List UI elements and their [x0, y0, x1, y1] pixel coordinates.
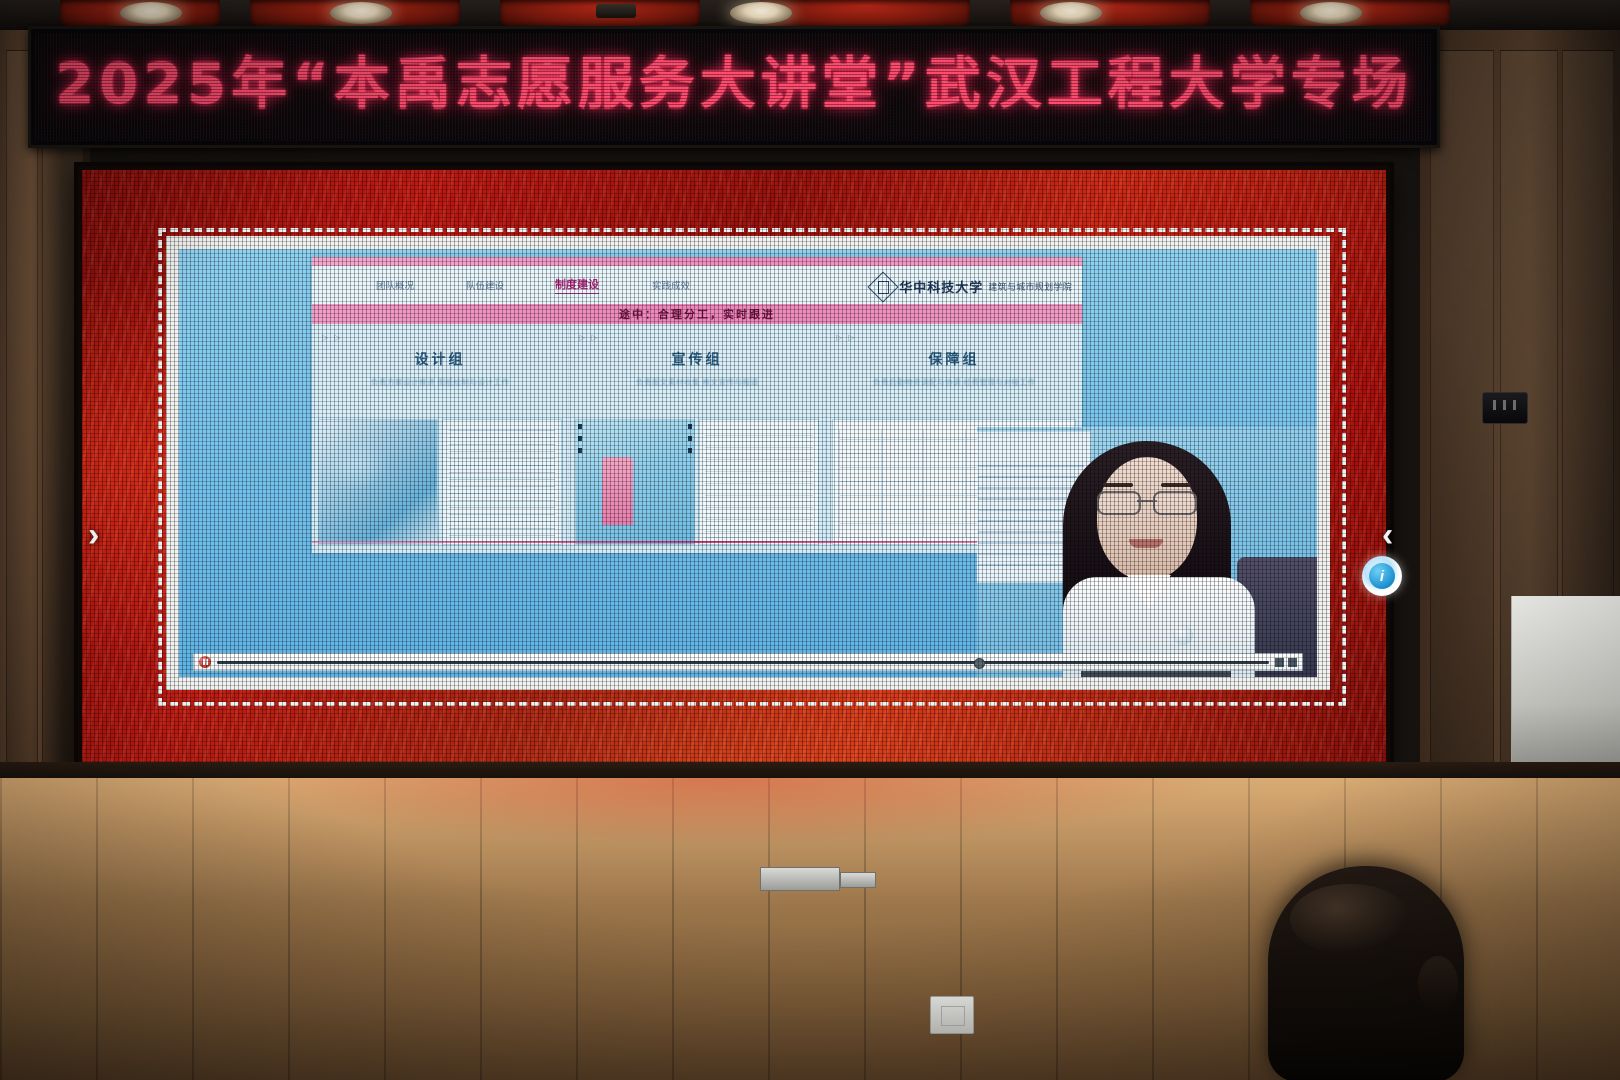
player-right-controls[interactable]: [1275, 658, 1297, 667]
led-video-wall: 团队概况 队伍建设 制度建设 实践成效 华中科技大学 建筑与城市规划学院: [78, 166, 1390, 766]
info-glyph: i: [1369, 563, 1395, 589]
group-desc-design: 负责方案设计推进 图纸绘制与设计工作: [320, 377, 560, 389]
info-badge-icon[interactable]: i: [1362, 556, 1402, 596]
prev-arrow-icon[interactable]: ›: [88, 518, 99, 552]
university-name: 华中科技大学: [899, 277, 983, 296]
next-arrow-icon[interactable]: ‹: [1382, 518, 1393, 552]
university-emblem-icon: [870, 274, 894, 298]
bullet-marker-icon: ▷ ▷: [579, 333, 600, 342]
ceiling-light: [330, 2, 392, 24]
document-footer-rule: [312, 541, 1082, 543]
bullet-marker-icon: ▷ ▷: [836, 333, 857, 342]
volume-icon[interactable]: [1275, 658, 1284, 667]
floor-cable-plate: [760, 867, 840, 891]
thumbnail-article-text: [699, 419, 819, 545]
video-player-controls[interactable]: [193, 653, 1303, 671]
school-name: 建筑与城市规划学院: [988, 280, 1072, 293]
nav-tab-overview[interactable]: 团队概况: [376, 278, 414, 292]
section-banner-text: 途中：合理分工，实时跟进: [619, 306, 775, 322]
bullet-marker-icon: ▷ ▷: [322, 333, 343, 342]
led-wall-red-background: 团队概况 队伍建设 制度建设 实践成效 华中科技大学 建筑与城市规划学院: [82, 170, 1386, 762]
document-nav-bar: 团队概况 队伍建设 制度建设 实践成效 华中科技大学 建筑与城市规划学院: [312, 266, 1082, 305]
nav-tab-team[interactable]: 队伍建设: [466, 278, 504, 292]
led-banner-text: 2025年“本禹志愿服务大讲堂”武汉工程大学专场: [35, 39, 1433, 120]
thumbnail-site-map: [318, 419, 438, 545]
group-desc-publicity: 负责图文素材收集 推文宣传与报道: [577, 377, 817, 389]
presenter-eyebrow: [1161, 483, 1191, 487]
group-thumbnails-design: [318, 419, 562, 545]
group-column-design: ▷ ▷ 设计组 负责方案设计推进 图纸绘制与设计工作: [312, 327, 568, 549]
led-banner-screen: 2025年“本禹志愿服务大讲堂”武汉工程大学专场: [35, 33, 1433, 141]
slide-document: 团队概况 队伍建设 制度建设 实践成效 华中科技大学 建筑与城市规划学院: [312, 257, 1082, 553]
group-columns: ▷ ▷ 设计组 负责方案设计推进 图纸绘制与设计工作 ▷ ▷ 宣传组 负责图文: [312, 327, 1082, 549]
group-title-support: 保障组: [834, 349, 1074, 369]
presenter-glasses: [1097, 491, 1197, 511]
pause-button-icon[interactable]: [199, 656, 211, 668]
floor-cable-plate: [840, 872, 876, 888]
section-banner: 途中：合理分工，实时跟进: [312, 304, 1082, 324]
presenter-eyebrow: [1103, 483, 1133, 487]
thumbnail-field-photo: [575, 419, 695, 545]
nav-tab-institution[interactable]: 制度建设: [555, 276, 599, 294]
group-desc-support: 负责后勤物资调配与协调 经费管理与对接工作: [834, 377, 1074, 389]
led-banner: 2025年“本禹志愿服务大讲堂”武汉工程大学专场: [28, 26, 1440, 148]
group-title-design: 设计组: [320, 349, 560, 369]
ceiling-light: [730, 2, 792, 24]
ceiling-vent: [596, 4, 636, 18]
presenter-video: [977, 427, 1317, 677]
group-title-publicity: 宣传组: [577, 349, 817, 369]
fullscreen-icon[interactable]: [1288, 658, 1297, 667]
floor-wall-socket: [930, 996, 974, 1034]
presentation-slide[interactable]: 团队概况 队伍建设 制度建设 实践成效 华中科技大学 建筑与城市规划学院: [179, 249, 1317, 677]
wall-outlet: [1482, 392, 1528, 424]
audience-head-highlight: [1290, 884, 1410, 954]
presenter-shirt-badge: [1173, 625, 1193, 645]
thumbnail-annotation-list: [442, 419, 562, 545]
ceiling-light: [1300, 2, 1362, 24]
seek-handle[interactable]: [974, 658, 985, 669]
presenter-mouth: [1129, 539, 1163, 548]
audience-ear: [1418, 956, 1458, 1012]
group-column-publicity: ▷ ▷ 宣传组 负责图文素材收集 推文宣传与报道: [568, 327, 825, 549]
ceiling-light: [120, 2, 182, 24]
group-thumbnails-publicity: [575, 419, 819, 545]
presenter-face: [1097, 457, 1197, 581]
university-logo-block: 华中科技大学 建筑与城市规划学院: [870, 274, 1072, 298]
presentation-hall-scene: 2025年“本禹志愿服务大讲堂”武汉工程大学专场 团队概况 队伍建设 制度建设 …: [0, 0, 1620, 1080]
floor-red-reflection: [30, 778, 1410, 870]
ceiling-light: [1040, 2, 1102, 24]
wall-left: [0, 30, 90, 820]
nav-tab-results[interactable]: 实践成效: [652, 278, 690, 292]
seek-bar[interactable]: [217, 661, 1269, 664]
document-top-bar: [312, 257, 1082, 266]
